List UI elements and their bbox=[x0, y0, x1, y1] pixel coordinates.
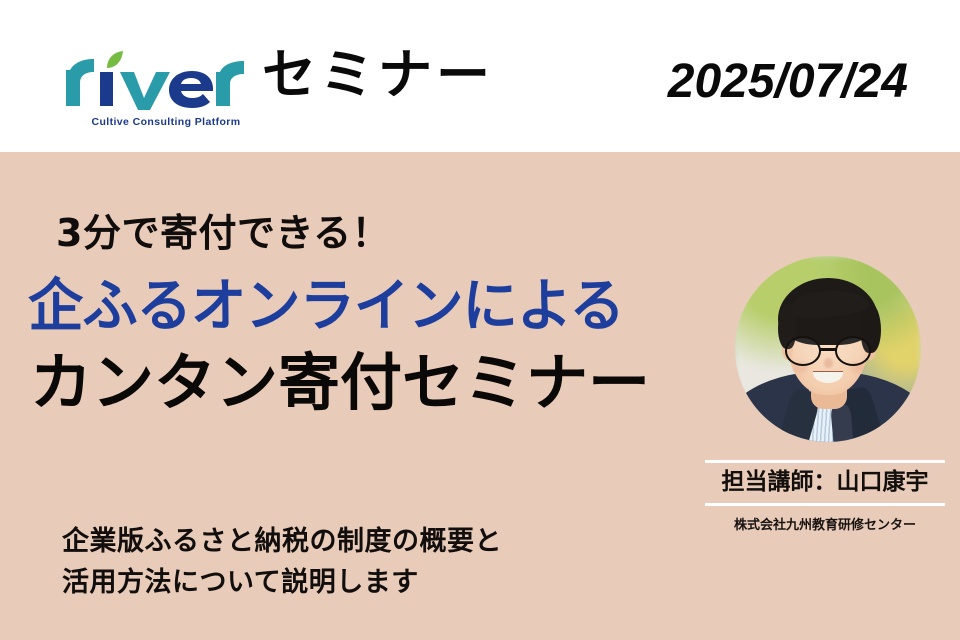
instructor-caption: 担当講師：山口康宇 株式会社九州教育研修センター bbox=[705, 460, 945, 533]
river-logo: Cultive Consulting Platform bbox=[64, 50, 264, 138]
seminar-flyer: Cultive Consulting Platform セミナー 2025/07… bbox=[0, 0, 960, 640]
lens-right bbox=[835, 336, 871, 366]
lens-left bbox=[785, 336, 821, 366]
main-panel: 3分で寄付できる！ 企ふるオンラインによる カンタン寄付セミナー 企業版ふるさと… bbox=[0, 152, 960, 640]
subcopy-line-1: 企業版ふるさと納税の制度の概要と bbox=[62, 522, 502, 563]
header-title: セミナー bbox=[262, 48, 494, 102]
portrait-circle bbox=[735, 256, 921, 442]
glasses-bridge bbox=[820, 348, 835, 350]
subcopy-line-2: 活用方法について説明します bbox=[62, 563, 502, 604]
river-wordmark bbox=[64, 50, 254, 112]
subcopy-block: 企業版ふるさと納税の制度の概要と 活用方法について説明します bbox=[62, 522, 502, 603]
instructor-portrait bbox=[735, 256, 921, 442]
rule-bottom bbox=[705, 503, 945, 506]
instructor-company: 株式会社九州教育研修センター bbox=[705, 514, 945, 533]
logo-tagline: Cultive Consulting Platform bbox=[78, 116, 254, 128]
headline-secondary: カンタン寄付セミナー bbox=[30, 352, 650, 414]
headline-primary: 企ふるオンラインによる bbox=[28, 278, 624, 335]
kicker-text: 3分で寄付できる！ bbox=[56, 202, 390, 257]
instructor-name: 担当講師：山口康宇 bbox=[705, 463, 945, 503]
header-bar: Cultive Consulting Platform セミナー 2025/07… bbox=[0, 0, 960, 152]
glasses-icon bbox=[785, 336, 871, 366]
seminar-date: 2025/07/24 bbox=[668, 56, 908, 109]
